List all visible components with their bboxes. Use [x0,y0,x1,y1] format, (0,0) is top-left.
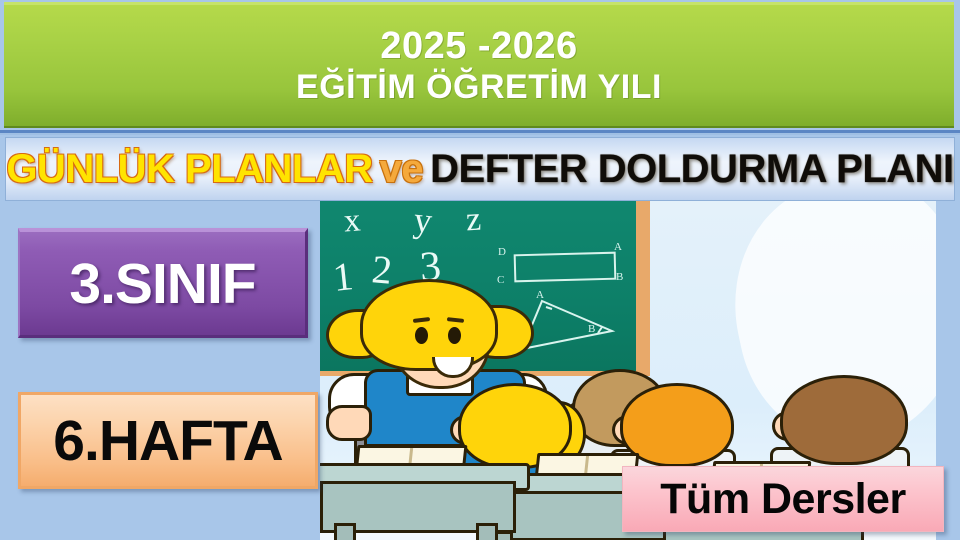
academic-term-line: EĞİTİM ÖĞRETİM YILI [296,68,662,106]
teacher-right-eye [448,327,461,344]
chalk-number-1: 1 [331,252,356,301]
chalk-rectangle [514,252,617,283]
tri-label-a: A [536,289,544,301]
desk-leg [334,523,356,540]
week-label-box: 6.HAFTA [18,392,318,489]
grade-label-text: 3.SINIF [69,251,255,317]
poster-canvas: 2025 -2026 EĞİTİM ÖĞRETİM YILI GÜNLÜK PL… [0,0,960,540]
subjects-label-text: Tüm Dersler [660,475,905,524]
chalk-variable-z: z [465,201,482,239]
desk-leg [476,523,498,540]
rect-label-d: D [498,246,506,258]
teacher-left-hand [326,405,372,441]
student-hair [780,375,908,465]
chalk-variable-x: x [343,202,362,240]
teacher-hair [360,279,498,371]
subjects-label-box: Tüm Dersler [622,466,944,532]
week-label-text: 6.HAFTA [53,408,282,474]
title-part-notebook-plan: DEFTER DOLDURMA PLANI [430,149,954,189]
chalk-triangle [518,297,618,353]
chalk-variable-y: y [412,201,434,242]
rect-label-c: C [497,274,504,286]
tri-label-b: B [588,323,595,335]
title-banner: GÜNLÜK PLANLAR ve DEFTER DOLDURMA PLANI [5,137,955,201]
rect-label-b: B [616,271,623,283]
academic-year-line: 2025 -2026 [380,25,577,68]
header-banner: 2025 -2026 EĞİTİM ÖĞRETİM YILI [4,2,954,128]
rect-label-a: A [614,241,622,253]
teacher-left-eye [415,327,428,344]
grade-label-box: 3.SINIF [18,228,308,338]
title-part-daily-plans: GÜNLÜK PLANLAR [6,149,372,189]
divider-rule-lower [0,133,960,135]
title-part-conjunction: ve [380,149,424,189]
